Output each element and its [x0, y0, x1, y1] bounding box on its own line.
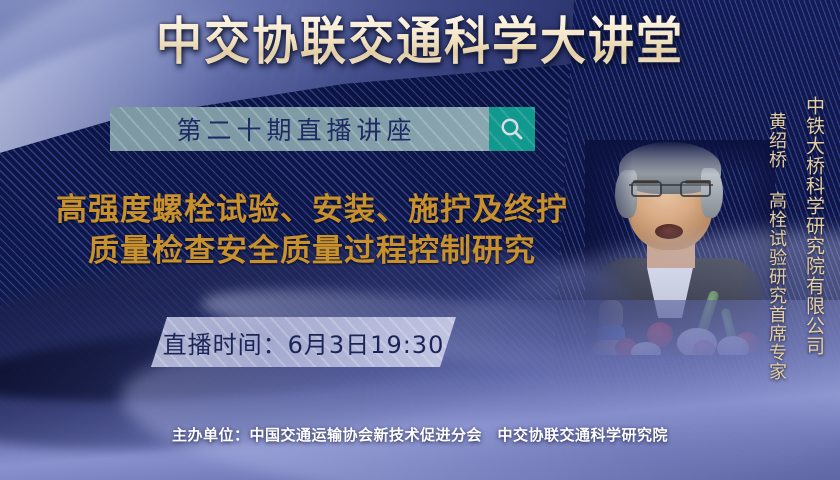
headline-line-2: 质量检查安全质量过程控制研究: [12, 231, 612, 272]
live-lecture-poster: 中交协联交通科学大讲堂 第二十期直播讲座 高强度螺栓试验、安装、施拧及终拧 质量…: [0, 0, 840, 480]
headline-line-1: 高强度螺栓试验、安装、施拧及终拧: [56, 192, 568, 228]
search-icon: [499, 116, 525, 142]
episode-label: 第二十期直播讲座: [110, 111, 489, 147]
episode-bar-body: 第二十期直播讲座: [110, 107, 489, 151]
glasses-icon: [629, 184, 713, 201]
speaker-organization: 中铁大桥科学研究院有限公司: [803, 96, 824, 356]
search-button[interactable]: [489, 107, 535, 151]
speaker-name-role: 黄绍桥 高栓试验研究首席专家: [766, 112, 786, 381]
speaker-mouth: [655, 224, 683, 239]
episode-bar: 第二十期直播讲座: [110, 107, 535, 151]
photo-fade-top: [585, 140, 775, 174]
lecture-headline: 高强度螺栓试验、安装、施拧及终拧 质量检查安全质量过程控制研究: [12, 190, 612, 272]
broadcast-time-badge: 直播时间：6月3日19:30: [151, 317, 456, 367]
page-title: 中交协联交通科学大讲堂: [0, 15, 840, 67]
broadcast-time-label: 直播时间：6月3日19:30: [163, 325, 445, 360]
organizers-footer: 主办单位：中国交通运输协会新技术促进分会 中交协联交通科学研究院: [0, 424, 840, 445]
